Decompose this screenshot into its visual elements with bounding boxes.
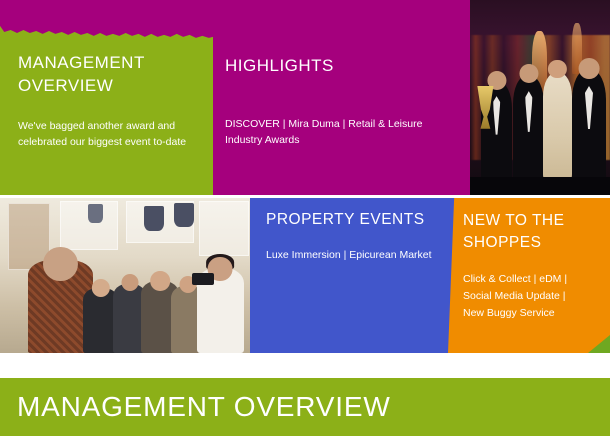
management-overview-subtitle: We've bagged another award and celebrate… [18, 118, 190, 151]
person-figure [513, 76, 544, 183]
person-head [150, 271, 170, 291]
management-overview-title: MANAGEMENT OVERVIEW [18, 52, 213, 98]
person-shirt [585, 86, 593, 129]
hanging-lamp [144, 206, 164, 231]
audience-group [0, 245, 252, 354]
white-divider [0, 353, 610, 378]
property-events-subtitle: Luxe Immersion | Epicurean Market [266, 247, 446, 263]
person-head [548, 60, 566, 78]
new-to-the-shoppes-subtitle: Click & Collect | eDM | Social Media Upd… [463, 271, 587, 321]
bottom-banner-title: MANAGEMENT OVERVIEW [0, 378, 610, 423]
person-figure [572, 70, 606, 183]
property-events-title: PROPERTY EVENTS [266, 210, 460, 231]
camera-icon [192, 273, 215, 285]
person-shirt [493, 96, 500, 135]
panel-highlights: HIGHLIGHTS DISCOVER | Mira Duma | Retail… [225, 0, 465, 195]
retail-event-photo [0, 198, 252, 353]
person-shirt [525, 91, 532, 132]
person-head [92, 279, 110, 297]
panel-property-events-content: PROPERTY EVENTS Luxe Immersion | Epicure… [250, 198, 460, 263]
highlights-title: HIGHLIGHTS [225, 55, 465, 78]
hanging-lamp [174, 203, 194, 228]
panel-property-events: PROPERTY EVENTS Luxe Immersion | Epicure… [250, 198, 460, 353]
corner-wedge-accent [588, 335, 610, 353]
stage-floor [470, 177, 610, 195]
person-head [519, 64, 538, 83]
awards-ceremony-photo [470, 0, 610, 195]
panel-new-to-the-shoppes-content: NEW TO THE SHOPPES Click & Collect | eDM… [448, 198, 610, 322]
person-head [579, 58, 600, 79]
person-head [121, 274, 138, 291]
person-head [43, 247, 77, 281]
person-figure [543, 72, 572, 183]
highlights-subtitle: DISCOVER | Mira Duma | Retail & Leisure … [225, 116, 433, 149]
new-to-the-shoppes-title: NEW TO THE SHOPPES [463, 210, 610, 253]
hanging-lamp [88, 204, 103, 223]
bottom-section-banner: MANAGEMENT OVERVIEW [0, 378, 610, 436]
panel-new-to-the-shoppes: NEW TO THE SHOPPES Click & Collect | eDM… [448, 198, 610, 353]
slide-canvas: MANAGEMENT OVERVIEW We've bagged another… [0, 0, 610, 436]
panel-highlights-content: HIGHLIGHTS DISCOVER | Mira Duma | Retail… [225, 0, 465, 148]
